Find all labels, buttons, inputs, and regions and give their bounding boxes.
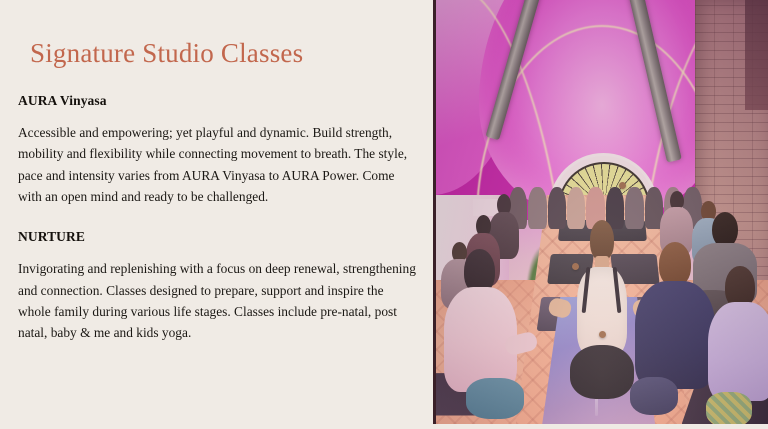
student-legs <box>706 392 752 424</box>
section-aura-vinyasa: AURA Vinyasa Accessible and empowering; … <box>18 93 417 207</box>
student-foreground-far-right <box>708 263 768 424</box>
student-legs <box>630 377 678 414</box>
studio-photo-canvas <box>436 0 768 424</box>
section-body-nurture: Invigorating and replenishing with a foc… <box>18 258 417 343</box>
student-foreground-left <box>443 246 519 416</box>
student-head <box>659 242 691 286</box>
student-figure <box>548 187 566 229</box>
student-foreground-right <box>635 242 715 412</box>
student-torso <box>635 281 715 390</box>
cork-ball-prop <box>572 263 579 270</box>
cork-ball-prop <box>599 331 606 338</box>
cork-ball-prop <box>619 182 626 189</box>
student-legs <box>466 378 524 419</box>
section-spacer <box>18 220 417 229</box>
student-legs <box>570 345 634 398</box>
page-title: Signature Studio Classes <box>30 38 417 69</box>
text-column: Signature Studio Classes AURA Vinyasa Ac… <box>0 0 433 429</box>
section-body-aura-vinyasa: Accessible and empowering; yet playful a… <box>18 122 417 207</box>
section-heading-nurture: NURTURE <box>18 229 417 245</box>
studio-photo <box>433 0 768 424</box>
brick-shadow <box>745 0 768 110</box>
student-foreground-center <box>565 220 638 398</box>
photo-bottom-strip <box>433 424 768 429</box>
student-torso <box>708 302 768 402</box>
section-nurture: NURTURE Invigorating and replenishing wi… <box>18 229 417 343</box>
section-heading-aura-vinyasa: AURA Vinyasa <box>18 93 417 109</box>
slide-root: Signature Studio Classes AURA Vinyasa Ac… <box>0 0 768 429</box>
